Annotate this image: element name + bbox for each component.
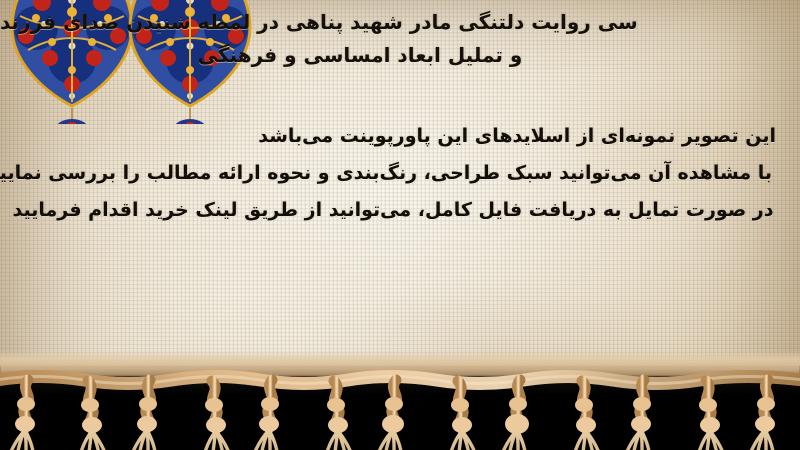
slide-canvas: سی روایت دلتنگی مادر شهید پناهی در لمظه … xyxy=(0,0,800,450)
slide-body: این تصویر نمونه‌ای از اسلایدهای این پاور… xyxy=(10,118,782,229)
title-line-2: و تملیل ابعاد امساسی و فرهنگی xyxy=(0,39,780,72)
fringe-tassels-icon xyxy=(0,340,800,450)
title-line-1: سی روایت دلتنگی مادر شهید پناهی در لمظه … xyxy=(0,6,800,39)
body-line-3: در صورت تمایل به دریافت فایل کامل، می‌تو… xyxy=(10,192,782,229)
body-line-2: با مشاهده آن می‌توانید سبک طراحی، رنگ‌بن… xyxy=(10,155,782,192)
fringe-border xyxy=(0,340,800,450)
slide-title: سی روایت دلتنگی مادر شهید پناهی در لمظه … xyxy=(0,6,780,72)
body-line-1: این تصویر نمونه‌ای از اسلایدهای این پاور… xyxy=(10,118,782,155)
